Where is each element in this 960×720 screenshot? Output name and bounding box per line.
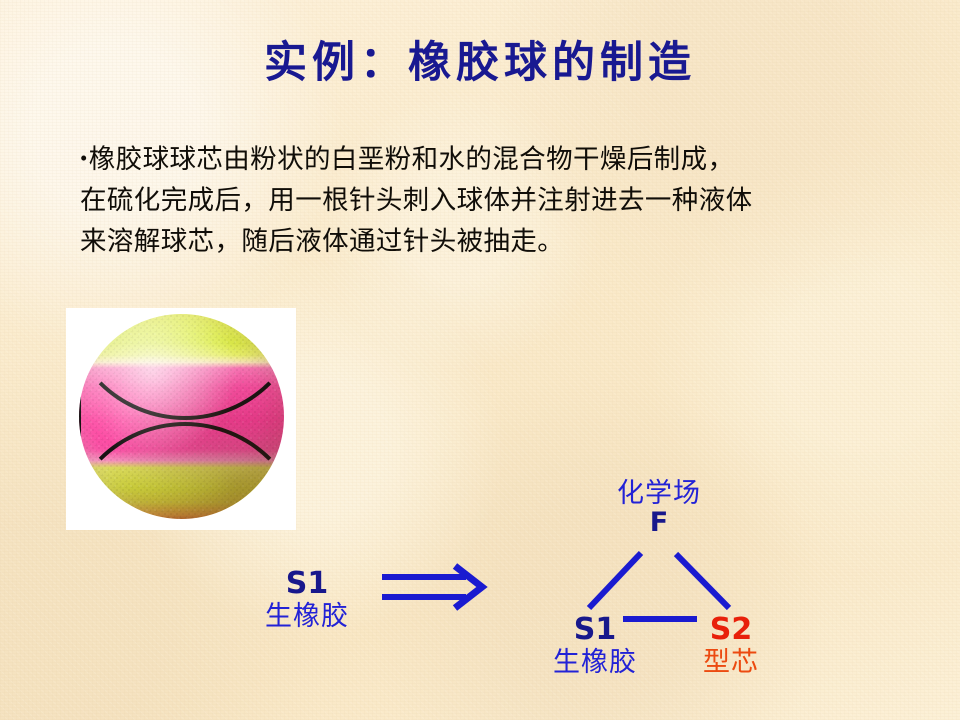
link-field-to-s2 (676, 554, 729, 608)
right-substance2-symbol: S2 (676, 614, 786, 646)
left-substance-label: 生橡胶 (232, 600, 382, 632)
right-substance1-label: 生橡胶 (530, 646, 660, 678)
body-line-3: 来溶解球芯，随后液体通过针头被抽走。 (80, 221, 920, 262)
body-paragraph: •橡胶球球芯由粉状的白垩粉和水的混合物干燥后制成， 在硫化完成后，用一根针头刺入… (80, 138, 920, 262)
right-substance2-label: 型芯 (676, 646, 786, 678)
field-group: 化学场 F (594, 478, 724, 538)
link-field-to-s1 (589, 553, 641, 608)
double-line-arrow-icon (382, 566, 482, 608)
right-substance1-group: S1 生橡胶 (530, 614, 660, 678)
rubber-ball-photo (66, 308, 296, 530)
field-label: 化学场 (594, 478, 724, 508)
su-field-links (589, 553, 729, 619)
field-symbol: F (594, 508, 724, 538)
body-line-2: 在硫化完成后，用一根针头刺入球体并注射进去一种液体 (80, 180, 920, 221)
ball-shading (79, 314, 284, 519)
body-line-1: •橡胶球球芯由粉状的白垩粉和水的混合物干燥后制成， (80, 138, 920, 180)
body-line-1-text: 橡胶球球芯由粉状的白垩粉和水的混合物干燥后制成， (89, 144, 735, 174)
left-substance-symbol: S1 (232, 568, 382, 600)
right-substance1-symbol: S1 (530, 614, 660, 646)
bullet-glyph: • (80, 146, 88, 170)
left-substance-group: S1 生橡胶 (232, 568, 382, 632)
presentation-slide: 实例：橡胶球的制造 •橡胶球球芯由粉状的白垩粉和水的混合物干燥后制成， 在硫化完… (0, 0, 960, 720)
rubber-basketball-image (79, 314, 284, 519)
slide-title: 实例：橡胶球的制造 (0, 28, 960, 90)
right-substance2-group: S2 型芯 (676, 614, 786, 678)
